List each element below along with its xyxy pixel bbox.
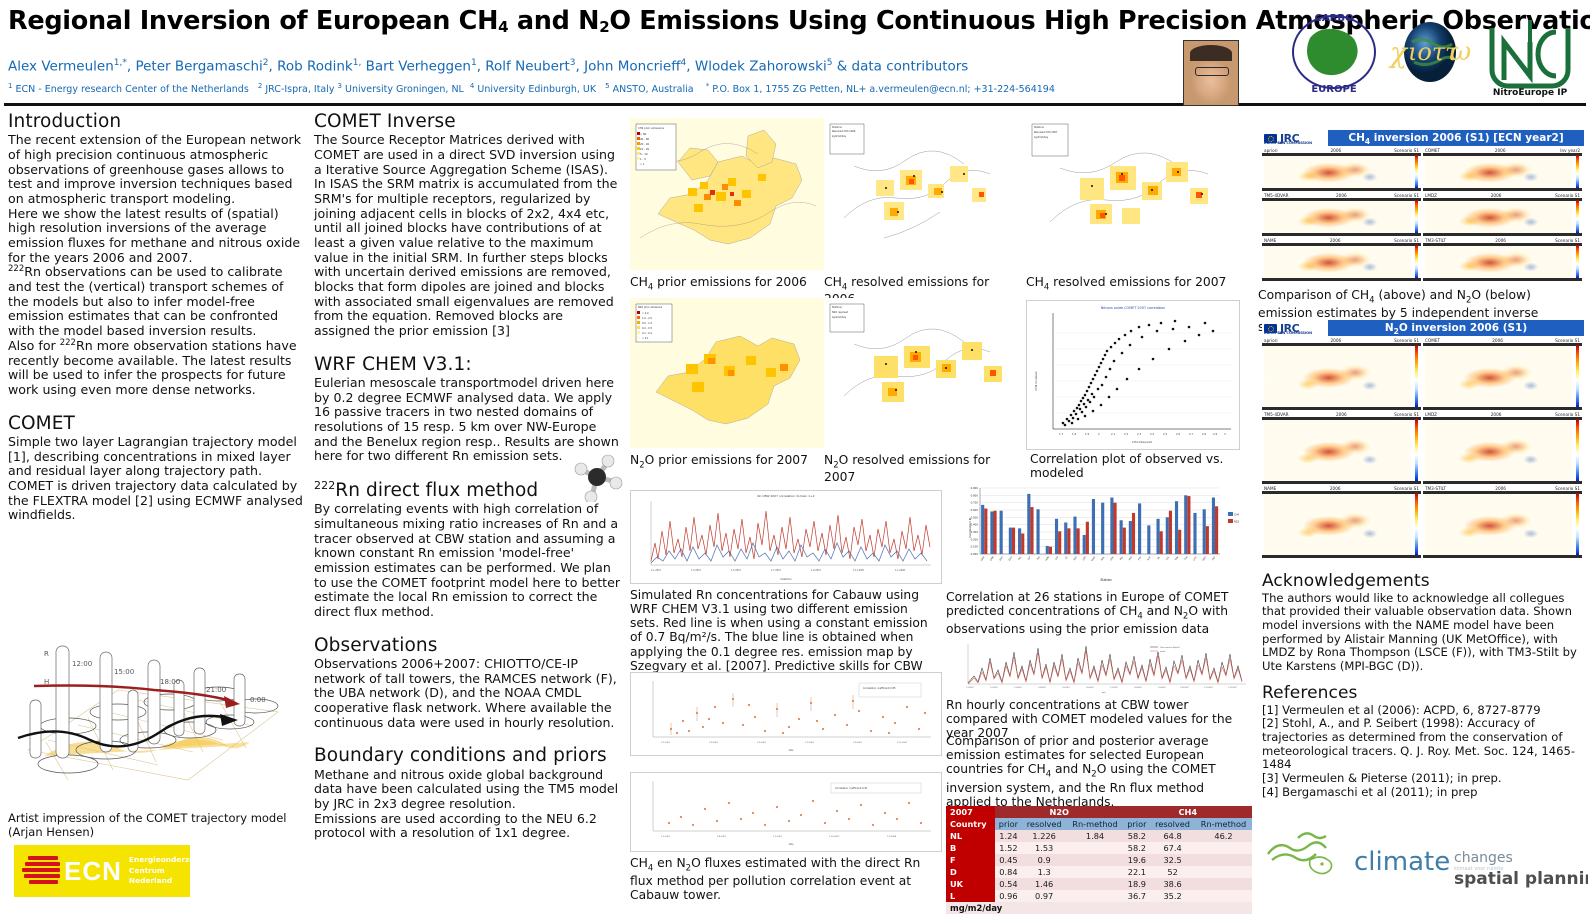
intro-para-4: Also for 222Rn more observation stations…	[8, 339, 306, 398]
svg-text:1-4-2007: 1-4-2007	[1038, 687, 1046, 689]
map-ch4-resolved-2006: Stations Resolved CH4 2006 kg/km2/day	[824, 118, 1020, 270]
jrc-colorbar	[1576, 419, 1579, 481]
bar-ytick: 0.900	[971, 486, 979, 490]
boundary-text-2: Emissions are used according to the NEU …	[314, 812, 622, 841]
svg-text:CARBO: CARBO	[1315, 13, 1354, 24]
bar-n2o-wes	[1206, 526, 1209, 554]
svg-text:Stations: Stations	[832, 306, 842, 309]
svg-text:Correlation coefficient 0.85: Correlation coefficient 0.85	[863, 687, 896, 690]
jrc-title-pre: CH	[1348, 132, 1365, 144]
svg-text:kg/km2/day: kg/km2/day	[832, 316, 847, 319]
table-subheader-rn-method: Rn-method	[1067, 818, 1124, 830]
jrc-logo-ch4: JRC EUROPEAN COMMISSION	[1262, 130, 1328, 146]
svg-text:1-6-2007: 1-6-2007	[1086, 687, 1094, 689]
ecn-logo: ECN Energieonderzoek Centrum Nederland	[14, 845, 190, 897]
reference-item-3: [3] Vermeulen & Pieterse (2011); in prep…	[1262, 772, 1584, 786]
table-cell-ch4-prior: 36.7	[1123, 890, 1150, 902]
svg-text:0.2 - 0.5: 0.2 - 0.5	[642, 327, 652, 330]
bar-ch4-ucc	[1193, 513, 1196, 554]
rn-plot-xlabel: Datetime	[780, 578, 792, 581]
jrc-cell-n2o-inversion-1-0: TM5-4DVAR2006Scenario S1	[1262, 412, 1421, 484]
jrc-map-frame-top	[1262, 198, 1421, 201]
svg-text:1-5-2007: 1-5-2007	[731, 569, 742, 572]
nitroeurope-logo	[1478, 10, 1582, 100]
svg-text:1-1-2008: 1-1-2008	[895, 569, 906, 572]
jrc-colorbar	[1415, 493, 1418, 555]
intro-para-3: 222Rn observations can be used to calibr…	[8, 265, 306, 338]
jrc-emission-map	[1264, 154, 1411, 190]
bar-ch4-wes	[1203, 509, 1206, 554]
table-cell-ch4-resolved: 35.2	[1150, 890, 1195, 902]
acknowledgements-text: The authors would like to acknowledge al…	[1262, 592, 1584, 674]
jrc-cell-n2o-inversion-2-0: NAME2006Scenario S1	[1262, 486, 1421, 558]
table-cell-n2o-prior: 0.45	[995, 854, 1022, 866]
page-title: Regional Inversion of European CH4 and N…	[8, 8, 1298, 36]
table-corner-label: 2007	[946, 806, 995, 818]
bar-n2o-egh	[1012, 528, 1015, 554]
chiotto-logo: χ ιoττ ω	[1382, 14, 1478, 94]
jrc-panel-grid-ch4: apriori2006Scenario S1COMET2006Inv year2…	[1262, 148, 1584, 284]
jrc-colorbar	[1576, 345, 1579, 407]
jrc-cell-n2o-inversion-2-1: TM3-STILT2006Scenario S1	[1423, 486, 1582, 558]
svg-text:1-11-2007: 1-11-2007	[1204, 687, 1213, 689]
boundary-text-1: Methane and nitrous oxide global backgro…	[314, 768, 622, 812]
svg-text:EUROPE: EUROPE	[1311, 84, 1356, 95]
svg-text:1-1-2008: 1-1-2008	[887, 836, 897, 838]
jrc-subtitle: EUROPEAN COMMISSION	[1264, 141, 1312, 145]
table-subheader-country: Country	[946, 818, 995, 830]
bar-ch4-sil	[1156, 519, 1159, 554]
svg-text:20 - 40: 20 - 40	[640, 142, 650, 146]
plot-ch4-flux-events: Correlation coefficient 0.85 1-1-20071-3…	[630, 672, 942, 756]
heading-acknowledgements: Acknowledgements	[1262, 572, 1584, 591]
jrc-emission-map	[1425, 418, 1572, 483]
bar-n2o-jfj	[1067, 528, 1070, 554]
intro-para-3-text: Rn observations can be used to calibrate…	[8, 264, 283, 338]
jrc-emission-map	[1264, 199, 1411, 235]
svg-text:1-9-2007: 1-9-2007	[1158, 687, 1166, 689]
heading-wrf-chem: WRF CHEM V3.1:	[314, 355, 622, 375]
table-cell-ch4-resolved: 38.6	[1150, 878, 1195, 890]
svg-text:1-8-2007: 1-8-2007	[1134, 687, 1142, 689]
legend-swatch-n2o	[1228, 519, 1233, 523]
svg-text:1-1-2007: 1-1-2007	[966, 687, 974, 689]
table-cell-ch4-resolved: 32.5	[1150, 854, 1195, 866]
table-cell-n2o-rn	[1067, 854, 1124, 866]
heading-comet: COMET	[8, 414, 306, 434]
wrf-chem-text: Eulerian mesoscale transportmodel driven…	[314, 376, 622, 464]
table-row: L0.960.9736.735.2	[946, 890, 1252, 902]
bar-ch4-cbw	[981, 505, 984, 554]
bar-n2o-kas	[1077, 528, 1080, 554]
table-row: B1.521.5358.267.4	[946, 842, 1252, 854]
chart-correlation-26-stations: 0.0000.1000.2000.3000.4000.5000.6000.700…	[946, 478, 1252, 584]
svg-text:1-5-2007: 1-5-2007	[1062, 687, 1070, 689]
svg-text:1-1-2007: 1-1-2007	[651, 569, 662, 572]
svg-text:Stations: Stations	[1034, 126, 1044, 129]
scatter-plot-ch4: Nitrous oxide COMET 2007 correlation	[1026, 300, 1240, 450]
svg-text:1 - 5: 1 - 5	[640, 157, 646, 161]
bar-ylabel: Correlation R	[968, 518, 972, 538]
jrc-emission-map	[1264, 492, 1411, 557]
table-cell-ch4-prior: 22.1	[1123, 866, 1150, 878]
rn-heading-superscript: 222	[314, 479, 335, 492]
plot-rn-simulated-cabauw: Rn CBW 2007 correlation domain 1+2 1-1-2…	[630, 490, 942, 584]
caption-n2o-prior-2007: N2O prior emissions for 2007	[630, 454, 826, 471]
svg-text:40 - 80: 40 - 80	[640, 137, 650, 141]
jrc-colorbar	[1415, 345, 1418, 407]
jrc-header-ch4: JRC EUROPEAN COMMISSION CH4 inversion 20…	[1262, 130, 1584, 146]
table-cell-n2o-resolved: 0.97	[1022, 890, 1067, 902]
table-group-n2o: N2O	[995, 806, 1123, 818]
table-sub-header-row: CountrypriorresolvedRn-methodpriorresolv…	[946, 818, 1252, 830]
table-cell-n2o-resolved: 1.53	[1022, 842, 1067, 854]
table-cell-ch4-resolved: 67.4	[1150, 842, 1195, 854]
scatter-caption-line1: Correlation plot of observed vs. modeled	[1030, 452, 1223, 480]
svg-text:1-1-2007: 1-1-2007	[661, 742, 671, 744]
svg-text:15:00: 15:00	[114, 668, 134, 676]
table-cell-ch4-rn	[1195, 842, 1252, 854]
table-cell-n2o-resolved: 1.226	[1022, 830, 1067, 842]
table-cell-ch4-prior: 58.2	[1123, 830, 1150, 842]
svg-text:18:00: 18:00	[160, 678, 180, 686]
caption-ch4-resolved-2007: CH4 resolved emissions for 2007	[1026, 276, 1238, 293]
bar-ytick: 0.100	[971, 545, 979, 549]
rn-superscript-2: 222	[60, 338, 76, 348]
jrc-emission-map	[1425, 492, 1572, 557]
svg-text:1-3-2007: 1-3-2007	[1014, 687, 1022, 689]
heading-references: References	[1262, 684, 1584, 703]
heading-introduction: Introduction	[8, 112, 306, 132]
barchart-caption-mid: and N	[1143, 604, 1183, 618]
jrc-map-frame-bottom	[1423, 407, 1582, 410]
bar-n2o-trn	[1178, 530, 1181, 554]
caption-table-intro: Comparison of prior and posterior averag…	[946, 734, 1252, 809]
table-cell-n2o-resolved: 0.9	[1022, 854, 1067, 866]
bar-ch4-hei	[1036, 509, 1039, 554]
svg-text:2.2: 2.2	[1124, 432, 1128, 436]
table-subheader-resolved: resolved	[1150, 818, 1195, 830]
bar-xlabel: Station	[1100, 578, 1111, 582]
bar-n2o-oxk	[1113, 503, 1116, 554]
jrc-panel-grid-n2o: apriori2006Scenario S1COMET2006Scenario …	[1262, 338, 1584, 560]
jrc-map-frame-top	[1423, 243, 1582, 246]
nitroeurope-label: NitroEurope IP	[1478, 88, 1582, 98]
table-cell-n2o-prior: 1.52	[995, 842, 1022, 854]
ecn-tagline-1: Energieonderzoek	[129, 855, 204, 866]
jrc-cell-n2o-inversion-1-1: LMDZ2006Scenario S1	[1423, 412, 1582, 484]
jrc-cell-ch4-inversion-1-1: LMDZ2006Scenario S1	[1423, 193, 1582, 236]
bar-n2o-sil	[1160, 531, 1163, 554]
jrc-colorbar	[1415, 245, 1418, 278]
jrc-map-frame-top	[1423, 153, 1582, 156]
bar-ch4-izo	[1055, 519, 1058, 554]
svg-text:1-3-2007: 1-3-2007	[709, 742, 719, 744]
bar-n2o-gif	[1030, 507, 1033, 554]
caption-text-post: prior emissions for 2006	[653, 275, 807, 289]
svg-text:2.3: 2.3	[1137, 432, 1141, 436]
svg-text:< 0.1: < 0.1	[642, 337, 649, 340]
bar-ch4-pal	[1120, 520, 1123, 554]
svg-text:Observations (Bq/m3): Observations (Bq/m3)	[1160, 646, 1180, 649]
bar-n2o-cmn	[993, 511, 996, 554]
table-cell-ch4-rn	[1195, 890, 1252, 902]
reference-item-2: [2] Stohl, A., and P. Seibert (1998): Ac…	[1262, 717, 1584, 772]
bar-ch4-tta	[1184, 495, 1187, 554]
table-cell-n2o-rn	[1067, 842, 1124, 854]
scatter-ylabel: CH4 modeled	[1034, 371, 1038, 390]
bar-ch4-ngl	[1101, 503, 1104, 554]
jrc-cell-ch4-inversion-0-0: apriori2006Scenario S1	[1262, 148, 1421, 191]
jrc-colorbar	[1576, 200, 1579, 233]
svg-text:1-11-2007: 1-11-2007	[897, 742, 908, 744]
observations-text: Observations 2006+2007: CHIOTTO/CE-IP ne…	[314, 657, 622, 730]
rn-heading-text: Rn direct flux method	[335, 480, 538, 501]
map-ch4-resolved-2007: StationsResolved CH4 2007kg/km2/day	[1026, 118, 1238, 270]
scatter-xlabel: CH4 Observed	[1132, 440, 1152, 444]
jrc-title-ch4: CH4 inversion 2006 (S1) [ECN year2]	[1328, 130, 1584, 146]
svg-text:5 - 10: 5 - 10	[640, 152, 648, 156]
table-subheader-prior: prior	[995, 818, 1022, 830]
svg-text:1-7-2007: 1-7-2007	[805, 742, 815, 744]
svg-text:10 - 20: 10 - 20	[640, 147, 650, 151]
spatial-planning-word: spatial planning	[1454, 869, 1588, 889]
intro-para-2: Here we show the latest results of (spat…	[8, 207, 306, 266]
table-row: D0.841.322.152	[946, 866, 1252, 878]
table-cell-n2o-resolved: 1.3	[1022, 866, 1067, 878]
svg-text:2.6: 2.6	[1176, 432, 1180, 436]
svg-text:< 1: < 1	[640, 162, 645, 166]
intro-para-4-pre: Also for	[8, 338, 60, 353]
table-cell-country: NL	[946, 830, 995, 842]
bar-ch4-fkl	[1018, 528, 1021, 554]
comet-inverse-text: The Source Receptor Matrices derived wit…	[314, 133, 622, 338]
bar-n2o-ssl	[1169, 511, 1172, 554]
jrc-map-frame-bottom	[1262, 233, 1421, 236]
svg-text:0.1 - 0.2: 0.1 - 0.2	[642, 332, 652, 335]
svg-text:2.4: 2.4	[1150, 432, 1154, 436]
jrc-colorbar	[1576, 155, 1579, 188]
svg-text:kg/km2/day: kg/km2/day	[1034, 136, 1049, 139]
svg-text:12:00: 12:00	[72, 660, 92, 668]
jrc-map-frame-bottom	[1262, 481, 1421, 484]
svg-text:2.1: 2.1	[1111, 432, 1115, 436]
jrc-cell-ch4-inversion-1-0: TM5-4DVAR2006Scenario S1	[1262, 193, 1421, 236]
table-unit-label: mg/m2/day	[946, 902, 1252, 914]
table-cell-ch4-rn	[1195, 878, 1252, 890]
table-subheader-rn-method: Rn-method	[1195, 818, 1252, 830]
jrc-colorbar	[1415, 155, 1418, 188]
map-ch4-prior-2006: CH4 prior emissions > 8040 - 8020 - 40 1…	[630, 118, 826, 270]
climate-changes-spatial-planning-logo: climate changes klimaat voor ruimte spat…	[1258, 820, 1588, 890]
bar-ytick: 0.800	[971, 493, 979, 497]
svg-text:1.8: 1.8	[1072, 432, 1076, 436]
heading-observations: Observations	[314, 636, 622, 656]
svg-text:1.9: 1.9	[1085, 432, 1089, 436]
svg-text:kg/km2/day: kg/km2/day	[832, 135, 847, 138]
table-cell-n2o-prior: 0.54	[995, 878, 1022, 890]
jrc-map-frame-top	[1262, 153, 1421, 156]
header-divider	[4, 103, 1586, 106]
svg-text:1-4-2007: 1-4-2007	[717, 836, 727, 838]
table-subheader-prior: prior	[1123, 818, 1150, 830]
bar-ytick: 0.700	[971, 501, 979, 505]
table-cell-ch4-rn	[1195, 854, 1252, 866]
table-cell-country: L	[946, 890, 995, 902]
trajectory-figure-caption: Artist impression of the COMET trajector…	[8, 812, 298, 839]
svg-text:1-9-2007: 1-9-2007	[853, 742, 863, 744]
table-cell-ch4-resolved: 52	[1150, 866, 1195, 878]
table-cell-n2o-rn	[1067, 878, 1124, 890]
svg-text:1.7: 1.7	[1059, 432, 1063, 436]
plot-n2o-flux-events: Correlation coefficient 0.91 1-1-20071-4…	[630, 772, 942, 852]
jrc-header-n2o: JRC EUROPEAN COMMISSION N2O inversion 20…	[1262, 320, 1584, 336]
table-subheader-resolved: resolved	[1022, 818, 1067, 830]
intro-para-1: The recent extension of the European net…	[8, 133, 306, 206]
jrc-cell-n2o-inversion-0-0: apriori2006Scenario S1	[1262, 338, 1421, 410]
table-cell-n2o-prior: 1.24	[995, 830, 1022, 842]
comet-text: Simple two layer Lagrangian trajectory m…	[8, 435, 306, 523]
svg-text:χ: χ	[1388, 36, 1409, 69]
scatter-plot-inner-title: Nitrous oxide COMET 2007 correlation	[1101, 306, 1166, 310]
legend-label-n2o: N2O	[1234, 521, 1239, 524]
bar-ch4-zep	[1212, 498, 1215, 554]
svg-text:1-7-2007: 1-7-2007	[1110, 687, 1118, 689]
svg-text:2.8: 2.8	[1202, 432, 1206, 436]
bar-ch4-cmn	[990, 511, 993, 554]
jrc-map-frame-top	[1262, 243, 1421, 246]
bar-ch4-ssl	[1166, 517, 1169, 554]
jrc-map-frame-bottom	[1423, 481, 1582, 484]
svg-text:Resolved CH4 2006: Resolved CH4 2006	[832, 130, 856, 133]
caption-text-pre: CH	[1026, 275, 1044, 289]
table-row: NL1.241.2261.8458.264.846.2	[946, 830, 1252, 842]
svg-text:Resolved CH4 2007: Resolved CH4 2007	[1034, 131, 1058, 134]
rn-superscript-1: 222	[8, 264, 24, 274]
svg-text:1-5-2007: 1-5-2007	[757, 742, 767, 744]
svg-text:> 80: > 80	[640, 132, 647, 136]
jrc-cell-ch4-inversion-0-1: COMET2006Inv year2	[1423, 148, 1582, 191]
author-photo	[1183, 40, 1239, 106]
jrc-map-frame-bottom	[1423, 188, 1582, 191]
bar-n2o-lmp	[1086, 522, 1089, 554]
affiliation-list: 1 ECN - Energy research Center of the Ne…	[8, 82, 1248, 97]
bar-n2o-prs	[1132, 513, 1135, 554]
svg-text:21:00: 21:00	[206, 686, 226, 694]
bar-ch4-sch	[1147, 525, 1150, 554]
methane-molecule-icon	[570, 452, 624, 502]
bar-ch4-puy	[1138, 503, 1141, 554]
table-cell-ch4-prior: 19.6	[1123, 854, 1150, 866]
plot-rn-hourly-cbw: Observations (Bq/m3) model 1-1-20071-2-2…	[952, 640, 1252, 694]
table-group-ch4: CH4	[1123, 806, 1252, 818]
references-section: References [1] Vermeulen et al (2006): A…	[1262, 684, 1584, 799]
jrc-emission-map	[1264, 344, 1411, 409]
caption-correlation-chart: Correlation at 26 stations in Europe of …	[946, 590, 1252, 637]
table-cell-country: D	[946, 866, 995, 878]
svg-text:2.7: 2.7	[1189, 432, 1193, 436]
bar-n2o-pal	[1123, 528, 1126, 554]
table-cell-ch4-rn: 46.2	[1195, 830, 1252, 842]
table-cell-n2o-rn: 1.84	[1067, 830, 1124, 842]
bar-ytick: 0.600	[971, 508, 979, 512]
svg-text:1-7-2007: 1-7-2007	[773, 836, 783, 838]
legend-label-ch4: CH4	[1234, 514, 1239, 517]
bar-ch4-egh	[1009, 528, 1012, 554]
jrc-colorbar	[1576, 493, 1579, 555]
bar-n2o-tta	[1187, 496, 1190, 554]
svg-text:N2O prior emissions: N2O prior emissions	[638, 306, 663, 309]
acknowledgements-section: Acknowledgements The authors would like …	[1262, 572, 1584, 674]
jrc-emission-map	[1264, 418, 1411, 483]
bar-ch4-oxk	[1110, 498, 1113, 554]
svg-text:2.5: 2.5	[1163, 432, 1167, 436]
table-cell-n2o-rn	[1067, 890, 1124, 902]
bar-ch4-lmp	[1083, 535, 1086, 554]
table-cell-ch4-resolved: 64.8	[1150, 830, 1195, 842]
bar-ch4-prs	[1129, 521, 1132, 554]
table-cell-ch4-prior: 58.2	[1123, 842, 1150, 854]
svg-text:date: date	[789, 749, 795, 752]
jrc-title-post: O inversion 2006 (S1)	[1399, 322, 1527, 334]
svg-text:1-10-2007: 1-10-2007	[1180, 687, 1189, 689]
table-cell-country: UK	[946, 878, 995, 890]
flux-caption-mid: en N	[653, 856, 685, 870]
jrc-title-n2o: N2O inversion 2006 (S1)	[1328, 320, 1584, 336]
jrc-caption-pre: Comparison of CH	[1258, 288, 1369, 302]
table-cell-ch4-prior: 18.9	[1123, 878, 1150, 890]
heading-boundary-conditions: Boundary conditions and priors	[314, 746, 622, 766]
svg-text:ω: ω	[1450, 37, 1471, 67]
jrc-map-frame-bottom	[1262, 278, 1421, 281]
table-cell-n2o-prior: 0.96	[995, 890, 1022, 902]
map-n2o-resolved-2007: StationsN2O resolvedkg/km2/day	[824, 298, 1020, 448]
jrc-emission-map	[1425, 154, 1572, 190]
jrc-map-frame-bottom	[1262, 188, 1421, 191]
jrc-colorbar	[1415, 419, 1418, 481]
caption-flux-events: CH4 en N2O fluxes estimated with the dir…	[630, 856, 940, 903]
caption-text-post: O prior emissions for 2007	[645, 453, 808, 467]
ecn-mark-icon	[22, 854, 62, 888]
table-cell-n2o-rn	[1067, 866, 1124, 878]
ecn-tagline-2: Centrum	[129, 866, 204, 877]
changes-word: changes	[1454, 850, 1513, 866]
table-cell-n2o-resolved: 1.46	[1022, 878, 1067, 890]
bar-ch4-kas	[1073, 517, 1076, 554]
svg-text:1-11-2007: 1-11-2007	[853, 569, 865, 572]
jrc-subtitle: EUROPEAN COMMISSION	[1264, 331, 1312, 335]
jrc-map-frame-top	[1423, 417, 1582, 420]
bar-ch4-hun	[1046, 546, 1049, 554]
table-cell-country: F	[946, 854, 995, 866]
bar-ch4-deu	[1000, 511, 1003, 554]
legend-swatch-ch4	[1228, 512, 1233, 516]
svg-text:1-2-2007: 1-2-2007	[990, 687, 998, 689]
table-row: UK0.541.4618.938.6	[946, 878, 1252, 890]
jrc-map-frame-top	[1423, 198, 1582, 201]
jrc-emission-map	[1425, 244, 1572, 280]
bar-n2o-hun	[1049, 547, 1052, 554]
svg-text:Correlation coefficient 0.91: Correlation coefficient 0.91	[835, 787, 868, 790]
table-cell-ch4-rn	[1195, 866, 1252, 878]
svg-text:1-12-2007: 1-12-2007	[1228, 687, 1237, 689]
jrc-map-frame-top	[1262, 491, 1421, 494]
jrc-caption-mid: (above) and N	[1375, 288, 1466, 302]
caption-text-pre: N	[824, 453, 833, 467]
heading-comet-inverse: COMET Inverse	[314, 112, 622, 132]
bar-ch4-trn	[1175, 501, 1178, 554]
jrc-map-frame-top	[1423, 343, 1582, 346]
